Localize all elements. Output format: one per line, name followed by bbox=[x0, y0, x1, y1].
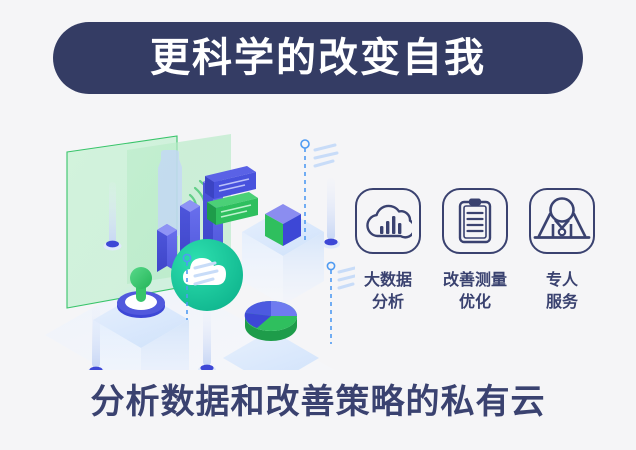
cloud-bar-chart-icon-frame bbox=[355, 188, 421, 254]
feature-label-measurement: 改善测量 优化 bbox=[443, 269, 507, 312]
clipboard-checklist-icon bbox=[453, 197, 497, 245]
page-title: 更科学的改变自我 bbox=[150, 38, 486, 78]
feature-label-support: 专人 服务 bbox=[546, 269, 578, 312]
support-agent-icon bbox=[531, 190, 593, 252]
feature-item-support[interactable]: 专人 服务 bbox=[526, 188, 598, 312]
feature-list: 大数据 分析 改善测量 优化 bbox=[352, 188, 598, 312]
bottle-silhouette bbox=[158, 150, 182, 238]
pie-chart-3d bbox=[245, 301, 297, 341]
pin-marker-right bbox=[322, 178, 340, 249]
footer-tagline: 分析数据和改善策略的私有云 bbox=[0, 385, 636, 419]
header-banner: 更科学的改变自我 bbox=[53, 22, 583, 94]
feature-item-big-data[interactable]: 大数据 分析 bbox=[352, 188, 424, 312]
clipboard-checklist-icon-frame bbox=[442, 188, 508, 254]
feature-item-measurement[interactable]: 改善测量 优化 bbox=[439, 188, 511, 312]
isometric-scene-svg bbox=[35, 120, 355, 370]
cloud-bar-chart-icon bbox=[364, 199, 412, 243]
feature-label-big-data: 大数据 分析 bbox=[364, 269, 412, 312]
poster-canvas: 更科学的改变自我 bbox=[0, 0, 636, 450]
support-agent-icon-frame bbox=[529, 188, 595, 254]
hero-illustration bbox=[35, 120, 355, 370]
